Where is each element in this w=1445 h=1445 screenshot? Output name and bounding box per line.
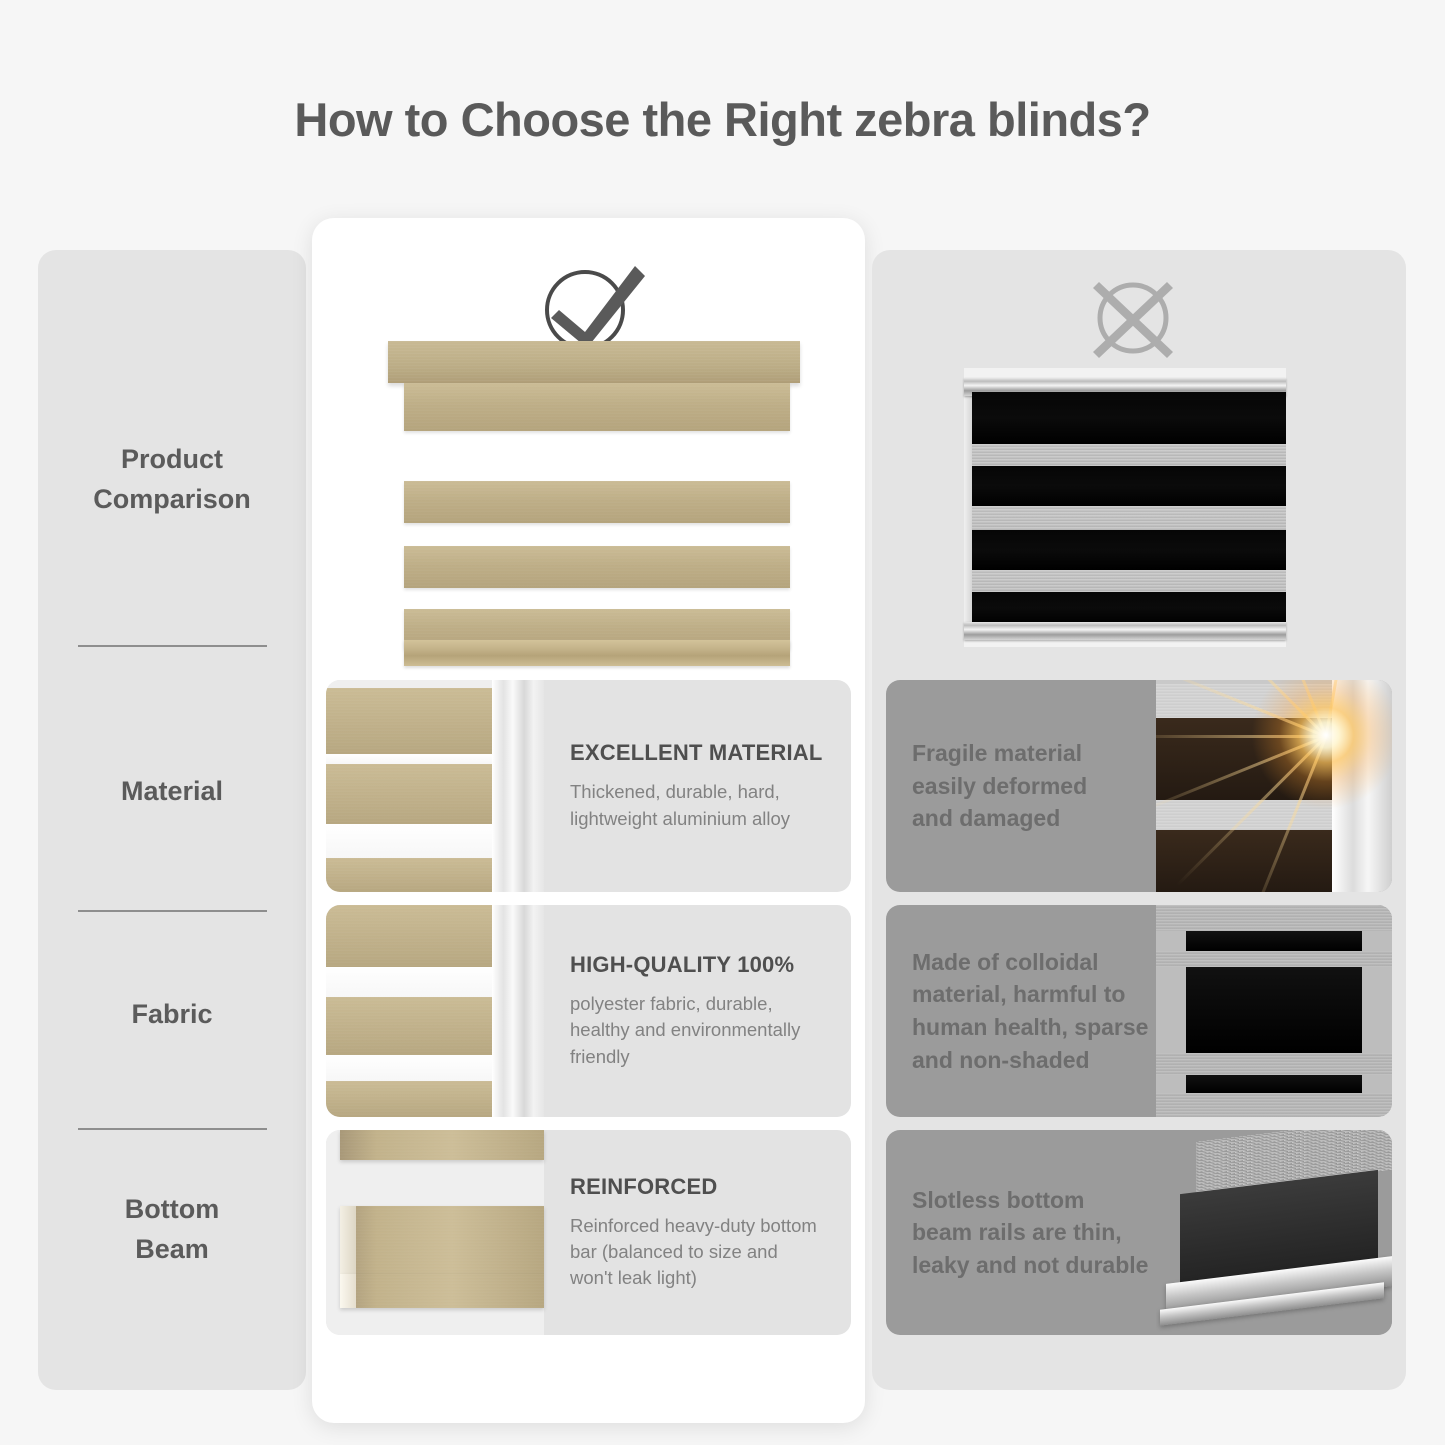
good-feature-bottom-beam: REINFORCED Reinforced heavy-duty bottom …	[326, 1130, 851, 1335]
page-title: How to Choose the Right zebra blinds?	[0, 92, 1445, 147]
blind-bottom-bar	[404, 640, 790, 666]
thin-bottom-rail-closeup-image	[1156, 1130, 1392, 1335]
cross-circle-icon	[1083, 272, 1183, 364]
row-label-fabric: Fabric	[38, 995, 306, 1035]
bad-feature-bottom-beam: Slotless bottom beam rails are thin, lea…	[886, 1130, 1392, 1335]
feature-body: Reinforced heavy-duty bottom bar (balanc…	[570, 1213, 837, 1292]
blind-black-band	[972, 466, 1286, 506]
good-feature-material: EXCELLENT MATERIAL Thickened, durable, h…	[326, 680, 851, 892]
blind-black-band	[972, 592, 1286, 624]
blind-sheer-band	[972, 570, 1286, 592]
bad-feature-text: Fragile material easily deformed and dam…	[912, 680, 1162, 892]
bad-feature-fabric: Made of colloidal material, harmful to h…	[886, 905, 1392, 1117]
bad-feature-text: Made of colloidal material, harmful to h…	[912, 905, 1162, 1117]
hero-black-zebra-blind	[964, 368, 1286, 647]
bad-feature-text: Slotless bottom beam rails are thin, lea…	[912, 1130, 1162, 1335]
blind-slat	[404, 383, 790, 431]
hero-beige-zebra-blind	[388, 341, 800, 666]
beige-blind-window-closeup-image	[326, 680, 544, 892]
row-divider-2	[78, 910, 267, 912]
feature-heading: HIGH-QUALITY 100%	[570, 952, 837, 978]
blind-black-band	[972, 530, 1286, 570]
beige-bottom-beam-closeup-image	[326, 1130, 544, 1335]
row-label-material: Material	[38, 772, 306, 812]
sun-glare-through-blind-image	[1156, 680, 1392, 892]
row-label-line-2: Comparison	[93, 484, 251, 514]
blind-headrail	[388, 341, 800, 383]
blind-slat	[404, 481, 790, 523]
feature-heading: REINFORCED	[570, 1174, 837, 1200]
row-label-product-comparison: Product Comparison	[38, 440, 306, 520]
row-label-panel: Product Comparison Material Fabric Botto…	[38, 250, 306, 1390]
blind-black-band	[972, 392, 1286, 444]
row-label-line-1: Product	[121, 444, 223, 474]
blind-sheer-band	[972, 444, 1286, 466]
row-label-line-1: Bottom	[125, 1194, 219, 1224]
row-divider-1	[78, 645, 267, 647]
feature-body: polyester fabric, durable, healthy and e…	[570, 991, 837, 1070]
infographic-canvas: How to Choose the Right zebra blinds? Pr…	[0, 0, 1445, 1445]
beige-blind-fabric-closeup-image	[326, 905, 544, 1117]
good-feature-fabric: HIGH-QUALITY 100% polyester fabric, dura…	[326, 905, 851, 1117]
blind-sheer-band	[972, 506, 1286, 530]
black-sheer-blind-closeup-image	[1156, 905, 1392, 1117]
row-label-line-2: Beam	[135, 1234, 209, 1264]
feature-body: Thickened, durable, hard, lightweight al…	[570, 779, 837, 832]
blind-bottom-rail	[964, 622, 1286, 640]
bad-feature-material: Fragile material easily deformed and dam…	[886, 680, 1392, 892]
row-divider-3	[78, 1128, 267, 1130]
row-label-bottom-beam: Bottom Beam	[38, 1190, 306, 1270]
blind-slat	[404, 546, 790, 588]
feature-heading: EXCELLENT MATERIAL	[570, 740, 837, 766]
